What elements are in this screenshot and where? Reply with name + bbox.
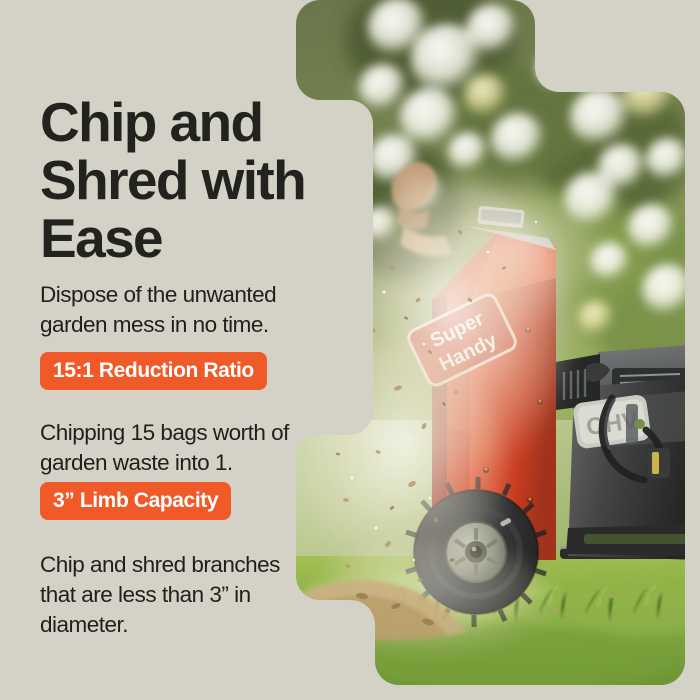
feature-description-limb-capacity: Chip and shred branches that are less th…: [40, 550, 330, 640]
engine-marking-text: OHV: [585, 407, 640, 441]
feature-badge-reduction-ratio: 15:1 Reduction Ratio: [40, 352, 267, 390]
product-feature-card: Super Handy: [0, 0, 700, 700]
lead-paragraph: Dispose of the unwanted garden mess in n…: [40, 280, 330, 340]
page-title: Chip and Shred with Ease: [40, 93, 340, 267]
wheel-graphic: [406, 477, 546, 627]
feature-description-reduction-ratio: Chipping 15 bags worth of garden waste i…: [40, 418, 330, 478]
machine-brand-line1: Super: [427, 308, 488, 353]
feature-badge-limb-capacity: 3” Limb Capacity: [40, 482, 231, 520]
machine-brand-line2: Handy: [436, 329, 501, 376]
text-column: Chip and Shred with Ease Dispose of the …: [40, 0, 340, 700]
